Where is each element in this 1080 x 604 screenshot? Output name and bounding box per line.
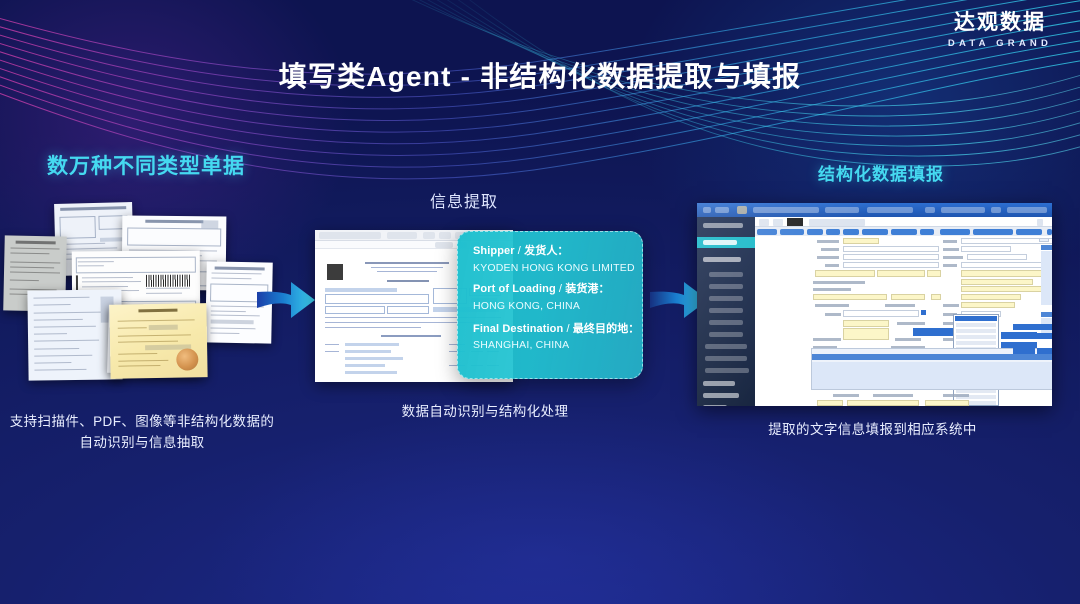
callout-label-cn-2: 最终目的地：	[573, 323, 640, 335]
callout-separator-0: /	[515, 245, 524, 257]
extraction-result-callout: Shipper / 发货人： KYODEN HONG KONG LIMITED …	[457, 231, 643, 379]
callout-field-value-0: KYODEN HONG KONG LIMITED	[473, 262, 642, 274]
callout-label-cn-1: 装货港：	[565, 283, 609, 295]
erp-tab-strip[interactable]	[755, 217, 1052, 227]
slide-canvas: 达观数据 DATA GRAND 填写类Agent - 非结构化数据提取与填报 数…	[0, 0, 1080, 604]
callout-label-en-2: Final Destination	[473, 323, 563, 335]
section-heading-middle: 信息提取	[430, 188, 498, 212]
document-stack	[0, 196, 290, 396]
slide-title: 填写类Agent - 非结构化数据提取与填报	[0, 55, 1080, 95]
target-system-screenshot	[697, 203, 1052, 406]
brand-name-cn: 达观数据	[948, 12, 1052, 33]
callout-field-label-2: Final Destination / 最终目的地：	[473, 323, 642, 337]
brand-logo: 达观数据 DATA GRAND	[948, 12, 1052, 49]
brand-name-en: DATA GRAND	[948, 39, 1052, 49]
callout-separator-1: /	[556, 283, 565, 295]
erp-titlebar	[697, 203, 1052, 217]
caption-right: 提取的文字信息填报到相应系统中	[740, 420, 1005, 441]
section-heading-left: 数万种不同类型单据	[47, 150, 245, 180]
callout-separator-2: /	[563, 323, 572, 335]
callout-label-en-1: Port of Loading	[473, 283, 556, 295]
caption-middle: 数据自动识别与结构化处理	[370, 402, 600, 423]
bill-of-exchange-document	[109, 303, 207, 379]
flow-arrow-documents-to-extraction	[255, 276, 317, 329]
section-heading-right: 结构化数据填报	[818, 160, 944, 185]
erp-button-bar[interactable]	[755, 227, 1052, 236]
erp-sidebar[interactable]	[697, 217, 755, 406]
erp-main-panel	[755, 217, 1052, 406]
callout-label-en-0: Shipper	[473, 245, 515, 257]
callout-field-value-2: SHANGHAI, CHINA	[473, 339, 642, 351]
caption-left: 支持扫描件、PDF、图像等非结构化数据的自动识别与信息抽取	[8, 412, 276, 454]
callout-label-cn-0: 发货人：	[524, 245, 568, 257]
erp-form-area[interactable]	[755, 236, 1052, 406]
callout-field-label-0: Shipper / 发货人：	[473, 245, 642, 259]
callout-field-label-1: Port of Loading / 装货港：	[473, 283, 642, 297]
callout-field-value-1: HONG KONG, CHINA	[473, 300, 642, 312]
round-seal-icon	[176, 348, 198, 370]
